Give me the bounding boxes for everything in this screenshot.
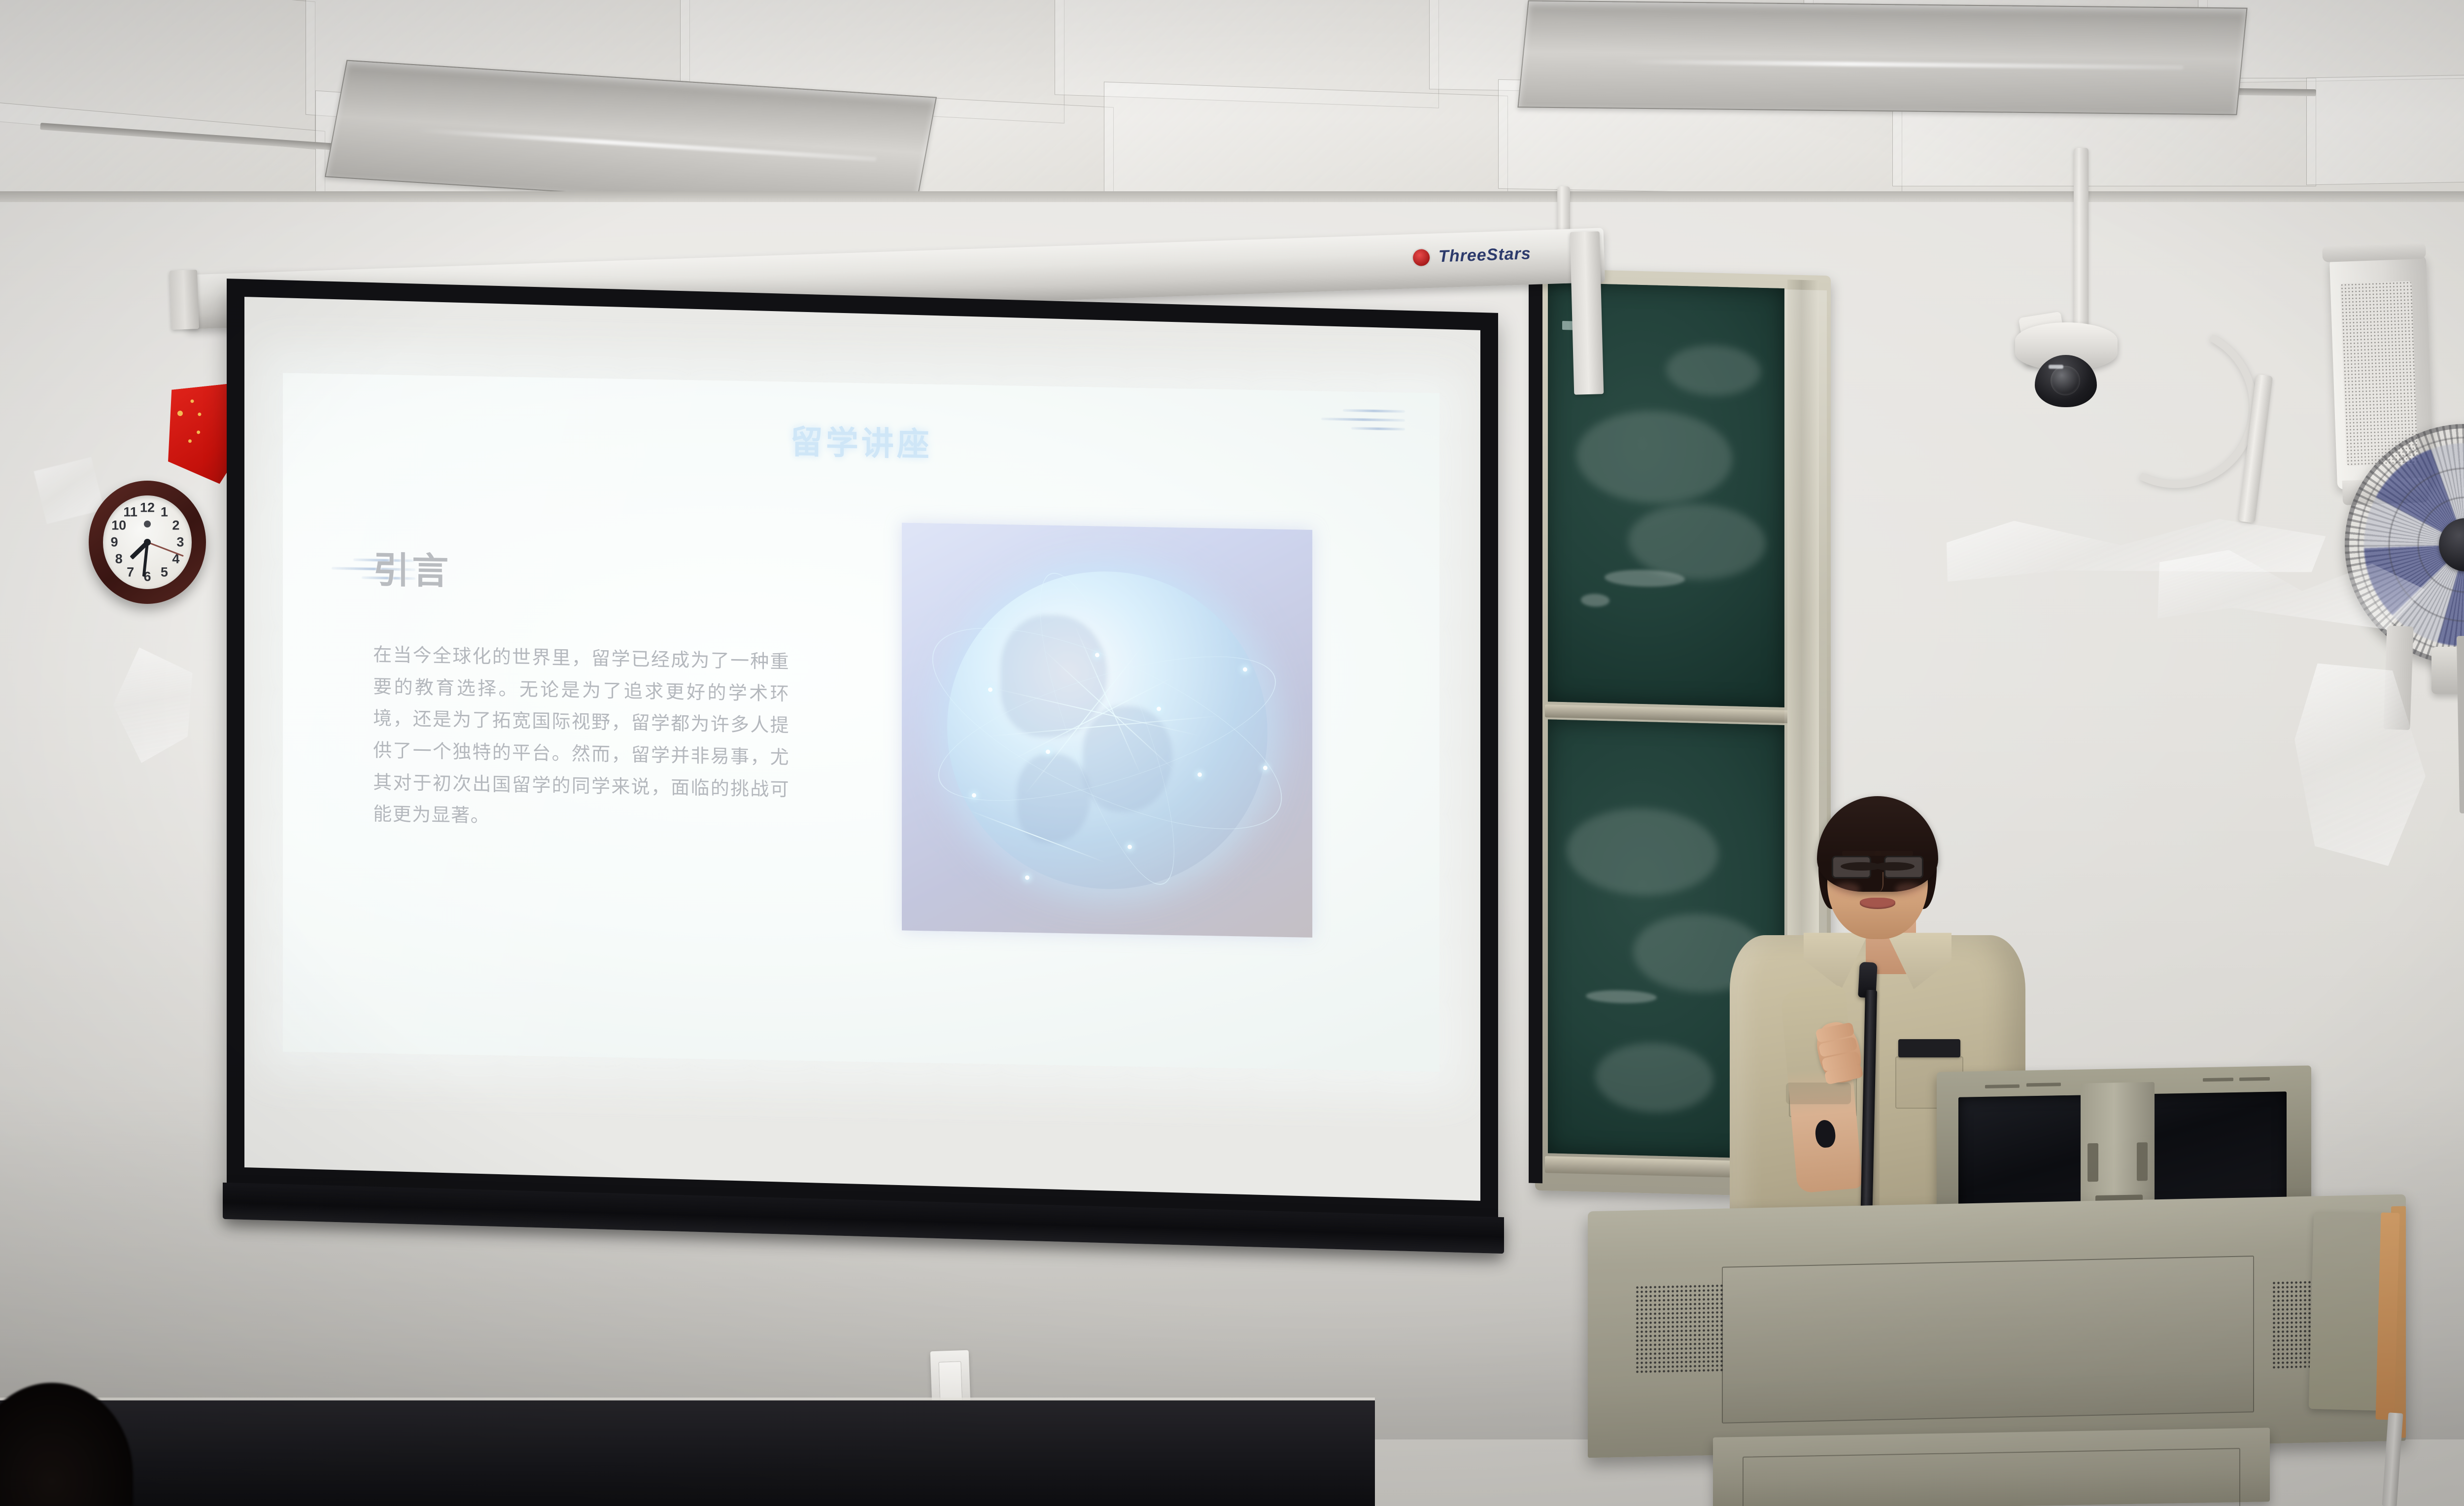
globe-network-node	[1263, 766, 1267, 770]
presenter-sleeve-cuff	[1786, 1083, 1851, 1104]
light-sheen	[1623, 59, 2184, 70]
slide-figure-globe	[902, 523, 1312, 938]
clock-numeral: 8	[115, 552, 123, 567]
suspended-ceiling	[0, 0, 2464, 197]
perforated-trefoil-logo-icon	[1635, 1284, 1724, 1374]
lectern-front-panel	[1722, 1256, 2254, 1424]
screen-frame: 留学讲座 引言 在当今全球化的世界里，留学已经成为了一种重要的教育选择。无论是为…	[227, 279, 1498, 1244]
projector-screen-assembly: ThreeStars 留学讲座 引言 在当今全球化的世界里，留学已经成为了一种重…	[148, 212, 1607, 1232]
presenter-nose	[1872, 872, 1883, 892]
monitor-vent	[2239, 1077, 2270, 1081]
lectern-top	[1588, 1194, 2406, 1458]
security-camera	[2013, 315, 2141, 428]
globe-network-graphic	[902, 523, 1312, 938]
globe-network-node	[1025, 876, 1029, 880]
three-stars-logo-icon	[1413, 249, 1430, 266]
camera-glint	[2049, 365, 2063, 369]
slide-heading: 引言	[373, 541, 451, 595]
monitor-vent	[1985, 1085, 2019, 1088]
presenter-mouth	[1860, 898, 1895, 909]
lectern-base	[1713, 1428, 2270, 1506]
dark-wainscot	[0, 1400, 1375, 1506]
lectern-base-panel	[1743, 1448, 2240, 1506]
camera-lens-icon	[2051, 366, 2080, 395]
globe-network-node	[1045, 750, 1050, 754]
chalk-smear	[1666, 344, 1761, 397]
housing-brand: ThreeStars	[1413, 244, 1532, 267]
clock-numeral: 7	[127, 564, 134, 580]
projected-slide: 留学讲座 引言 在当今全球化的世界里，留学已经成为了一种重要的教育选择。无论是为…	[283, 373, 1439, 1072]
ceiling-tile	[2306, 70, 2464, 185]
light-sheen	[417, 128, 877, 161]
lecture-hall-scene: 12 1 2 3 4 5 6 7 8 9 10 11	[0, 0, 2464, 1506]
chalk-smear	[1595, 1042, 1713, 1114]
clock-numeral: 10	[111, 518, 126, 533]
monitor-stand-detail	[2088, 1143, 2098, 1182]
slide-body-text: 在当今全球化的世界里，留学已经成为了一种重要的教育选择。无论是为了追求更好的学术…	[373, 639, 789, 838]
presenter-eyebrow	[1875, 851, 1913, 856]
clock-numeral: 11	[123, 505, 137, 520]
presenter-name-badge	[1898, 1039, 1960, 1057]
wainscot-highlight	[0, 1398, 1375, 1401]
globe-network-node	[988, 688, 992, 692]
brand-text: ThreeStars	[1438, 244, 1531, 266]
screen-mount-bracket	[1570, 231, 1604, 394]
monitor-vent	[2026, 1083, 2061, 1086]
monitor-stand-detail	[2137, 1142, 2148, 1181]
ceiling-tile	[1104, 82, 1508, 197]
monitor-vent	[2203, 1078, 2233, 1082]
wall-conduit-vertical	[2074, 148, 2088, 330]
globe-network-node	[971, 793, 976, 798]
ceiling-wall-junction	[0, 191, 2464, 202]
slide-title: 留学讲座	[283, 407, 1439, 475]
globe-network-node	[1095, 653, 1099, 657]
clock-numeral: 9	[111, 535, 118, 550]
screen-mount-bracket	[170, 270, 199, 330]
chalk-smear	[1628, 502, 1765, 581]
screen-surface: 留学讲座 引言 在当今全球化的世界里，留学已经成为了一种重要的教育选择。无论是为…	[244, 297, 1480, 1201]
ceiling-light-fixture	[1517, 0, 2247, 115]
